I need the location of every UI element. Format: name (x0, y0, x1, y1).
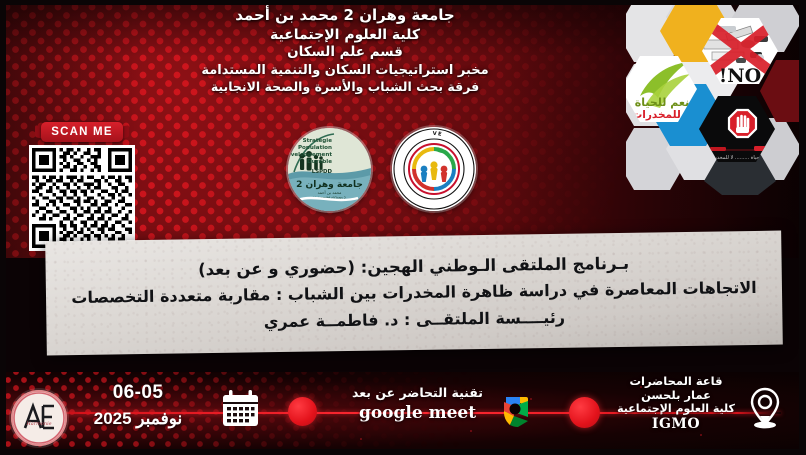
qr-code-icon[interactable] (29, 145, 135, 251)
venue-faculty: كلية العلوم الإجتماعية (612, 402, 740, 415)
research-team-logo: EQUIPE DE RECHERCHE JEUNES FAMILLE SANTÉ… (392, 127, 476, 211)
banner-program-line: بـرنامج الملتقى الـوطني الهجين: (حضوري و… (70, 252, 758, 281)
svg-text:Développement: Développement (288, 151, 332, 158)
calendar-icon-svg (221, 389, 260, 428)
svg-text:Harmonie: Harmonie (25, 421, 51, 427)
timeline-dot-1 (288, 397, 317, 426)
lab-logo: Stratégie Population Développement Durab… (288, 128, 371, 211)
svg-text:نعم للحياة: نعم للحياة (635, 96, 689, 109)
banner-theme-line: الاتجاهات المعاصرة في دراسة ظاهرة المخدر… (70, 278, 758, 307)
venue-campus: IGMO (612, 416, 740, 433)
svg-text:محمد بن أحمد: محمد بن أحمد (318, 190, 342, 195)
ae-monogram-logo: Harmonie (11, 390, 67, 446)
remote-attendance-info: تقنية التحاضر عن بعد google meet (330, 385, 505, 423)
research-team-name: فرقة بحث الشباب والأسرة والصحة الانجابية (150, 79, 540, 96)
location-pin-icon-svg (748, 386, 782, 430)
program-banner: بـرنامج الملتقى الـوطني الهجين: (حضوري و… (45, 231, 783, 356)
hex-collage-svg: NO! نعم للحياة لا للمخدرات نعم للحياة ..… (626, 0, 806, 195)
google-meet-icon[interactable] (498, 390, 536, 428)
remote-platform-name: google meet (330, 403, 505, 423)
timeline-dot-2 (569, 397, 600, 428)
institution-header: جامعة وهران 2 محمد بن أحمد كلية العلوم ا… (150, 6, 540, 96)
anti-drug-campaign-collage: NO! نعم للحياة لا للمخدرات نعم للحياة ..… (626, 0, 806, 195)
event-date: 06-05 نوفمبر 2025 (88, 383, 188, 429)
svg-text:Durable: Durable (307, 159, 332, 165)
qr-code-block[interactable]: SCAN ME (29, 122, 135, 251)
scan-me-badge: SCAN ME (41, 122, 123, 142)
google-meet-icon-svg[interactable] (498, 390, 536, 428)
svg-text:جامعة وهران 2: جامعة وهران 2 (296, 180, 363, 190)
banner-chair-line: رئيــــسة الملتقــى : د. فاطمــة عمري (70, 305, 758, 334)
svg-text:Population: Population (298, 145, 332, 151)
lab-logo-svg: Stratégie Population Développement Durab… (288, 128, 371, 211)
ae-monogram-svg: Harmonie (11, 390, 67, 446)
svg-text:LSPDD: LSPDD (312, 169, 333, 175)
conference-poster: جامعة وهران 2 محمد بن أحمد كلية العلوم ا… (0, 0, 806, 455)
no-label: NO! (719, 65, 761, 87)
svg-text:Stratégie: Stratégie (303, 137, 333, 144)
team-logo-svg: EQUIPE DE RECHERCHE JEUNES FAMILLE SANTÉ… (392, 127, 476, 211)
faculty-name: كلية العلوم الإجتماعية (150, 26, 540, 44)
department-name: قسم علم السكان (150, 44, 540, 62)
calendar-icon (221, 389, 260, 428)
laboratory-name: مخبر استراتيجيات السكان والتنمية المستدا… (150, 62, 540, 79)
university-name: جامعة وهران 2 محمد بن أحمد (150, 6, 540, 26)
venue-hall: قاعة المحاضرات (612, 374, 740, 388)
venue-hall-name: عمار بلحسن (612, 388, 740, 402)
event-date-days: 06-05 (88, 383, 188, 404)
remote-arabic-label: تقنية التحاضر عن بعد (330, 385, 505, 401)
event-date-month: نوفمبر 2025 (88, 408, 188, 429)
venue-info: قاعة المحاضرات عمار بلحسن كلية العلوم ال… (612, 374, 740, 434)
location-pin-icon (748, 386, 782, 430)
